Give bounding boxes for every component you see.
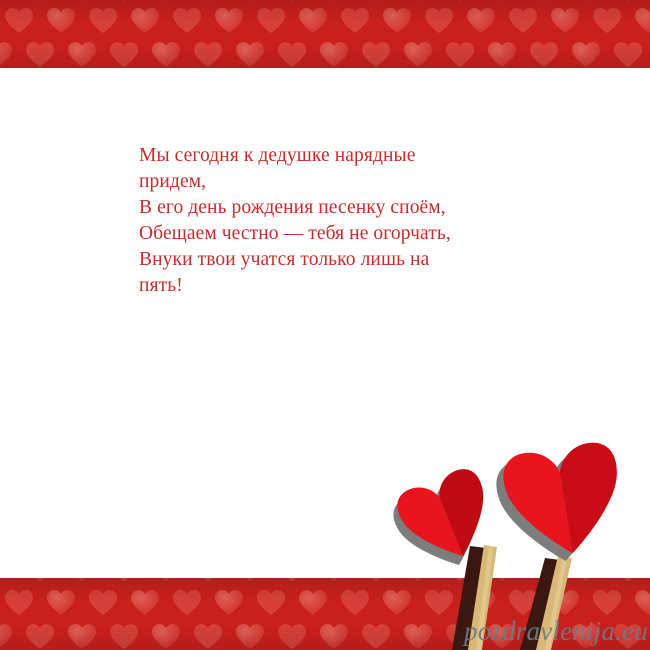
heart-pattern-top-icon [0,0,650,68]
hearts-pattern-band-top [0,0,650,68]
poem-text: Мы сегодня к дедушке нарядные придем, В … [139,143,539,299]
heart-lollipops-decoration [0,0,650,650]
greeting-card: Мы сегодня к дедушке нарядные придем, В … [0,0,650,650]
site-watermark: pozdravlenija.eu [464,616,648,646]
